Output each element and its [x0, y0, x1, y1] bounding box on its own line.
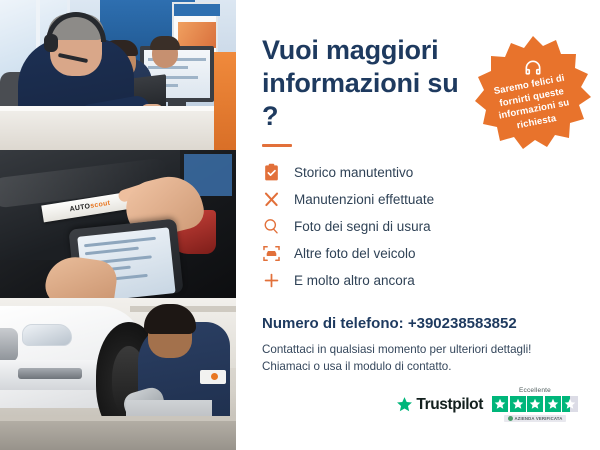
feature-label: E molto altro ancora: [294, 273, 415, 288]
star-filled: [545, 396, 561, 412]
photo3-lift-platform: [0, 416, 236, 450]
photo2-sticker-label: AUTO: [69, 203, 91, 213]
feature-item-foto-segni-usura[interactable]: Foto dei segni di usura: [262, 213, 574, 240]
trustpilot-wordmark: Trustpilot: [416, 396, 483, 414]
trustpilot-rating: Eccellente AZIENDA VERIFICATA: [492, 387, 578, 422]
photo3-headlight: [22, 324, 72, 346]
photo-technician-applying-auto-label-to-car: AUTOscout: [0, 150, 236, 298]
feature-label: Manutenzioni effettuate: [294, 192, 434, 207]
feature-label: Storico manutentivo: [294, 165, 413, 180]
trustpilot-rating-label: Eccellente: [519, 387, 551, 394]
feature-list: Storico manutentivo Manutenzioni effettu…: [262, 159, 574, 294]
content-panel: Vuoi maggiori informazioni su ? Saremo f…: [236, 0, 600, 450]
page-title: Vuoi maggiori informazioni su ?: [262, 34, 472, 133]
phone-number[interactable]: +390238583852: [408, 315, 517, 332]
tools-wrench-icon: [262, 190, 281, 209]
photo3-grille: [0, 328, 18, 362]
feature-label: Foto dei segni di usura: [294, 219, 431, 234]
phone-label: Numero di telefono:: [262, 315, 408, 332]
photo-mechanic-inspecting-wheel-on-lift: [0, 298, 236, 450]
photo-call-center-agents-headsets: [0, 0, 236, 150]
contact-line-1: Contattaci in qualsiasi momento per ulte…: [262, 341, 574, 358]
phone-line: Numero di telefono: +390238583852: [262, 315, 574, 332]
star-half: [562, 396, 578, 412]
photo1-orange-panel: [214, 52, 236, 150]
photo1-desk: [0, 106, 236, 150]
feature-label: Altre foto del veicolo: [294, 246, 416, 261]
feature-item-manutenzioni-effettuate[interactable]: Manutenzioni effettuate: [262, 186, 574, 213]
photo3-air-vent: [18, 368, 82, 379]
feature-item-storico-manutentivo[interactable]: Storico manutentivo: [262, 159, 574, 186]
photo1-person3-hair: [150, 36, 180, 50]
verified-check-icon: [508, 416, 513, 421]
feature-item-altre-foto-veicolo[interactable]: Altre foto del veicolo: [262, 240, 574, 267]
plus-icon: [262, 271, 281, 290]
photo2-sticker-accent: scout: [90, 200, 111, 210]
scan-car-icon: [262, 244, 281, 263]
verified-label: AZIENDA VERIFICATA: [515, 416, 563, 421]
feature-item-molto-altro[interactable]: E molto altro ancora: [262, 267, 574, 294]
trustpilot-widget[interactable]: Trustpilot Eccellente AZIENDA VERIFICATA: [396, 387, 578, 422]
star-filled: [527, 396, 543, 412]
magnifier-icon: [262, 217, 281, 236]
contact-instructions: Contattaci in qualsiasi momento per ulte…: [262, 341, 574, 376]
contact-line-2: Chiamaci o usa il modulo di contatto.: [262, 358, 574, 375]
photo3-uniform-badge-dot: [211, 373, 218, 380]
verified-business-badge: AZIENDA VERIFICATA: [504, 415, 567, 422]
info-on-request-badge: Saremo felici di fornirti queste informa…: [474, 34, 592, 152]
trustpilot-star-icon: [396, 396, 413, 413]
photo-column: AUTOscout: [0, 0, 236, 450]
photo1-headset-earcup: [44, 34, 58, 52]
star-filled: [510, 396, 526, 412]
trustpilot-logo: Trustpilot: [396, 396, 483, 414]
trustpilot-stars: [492, 396, 578, 412]
promo-banner: AUTOscout: [0, 0, 600, 450]
star-filled: [492, 396, 508, 412]
title-divider: [262, 144, 292, 147]
clipboard-check-icon: [262, 163, 281, 182]
